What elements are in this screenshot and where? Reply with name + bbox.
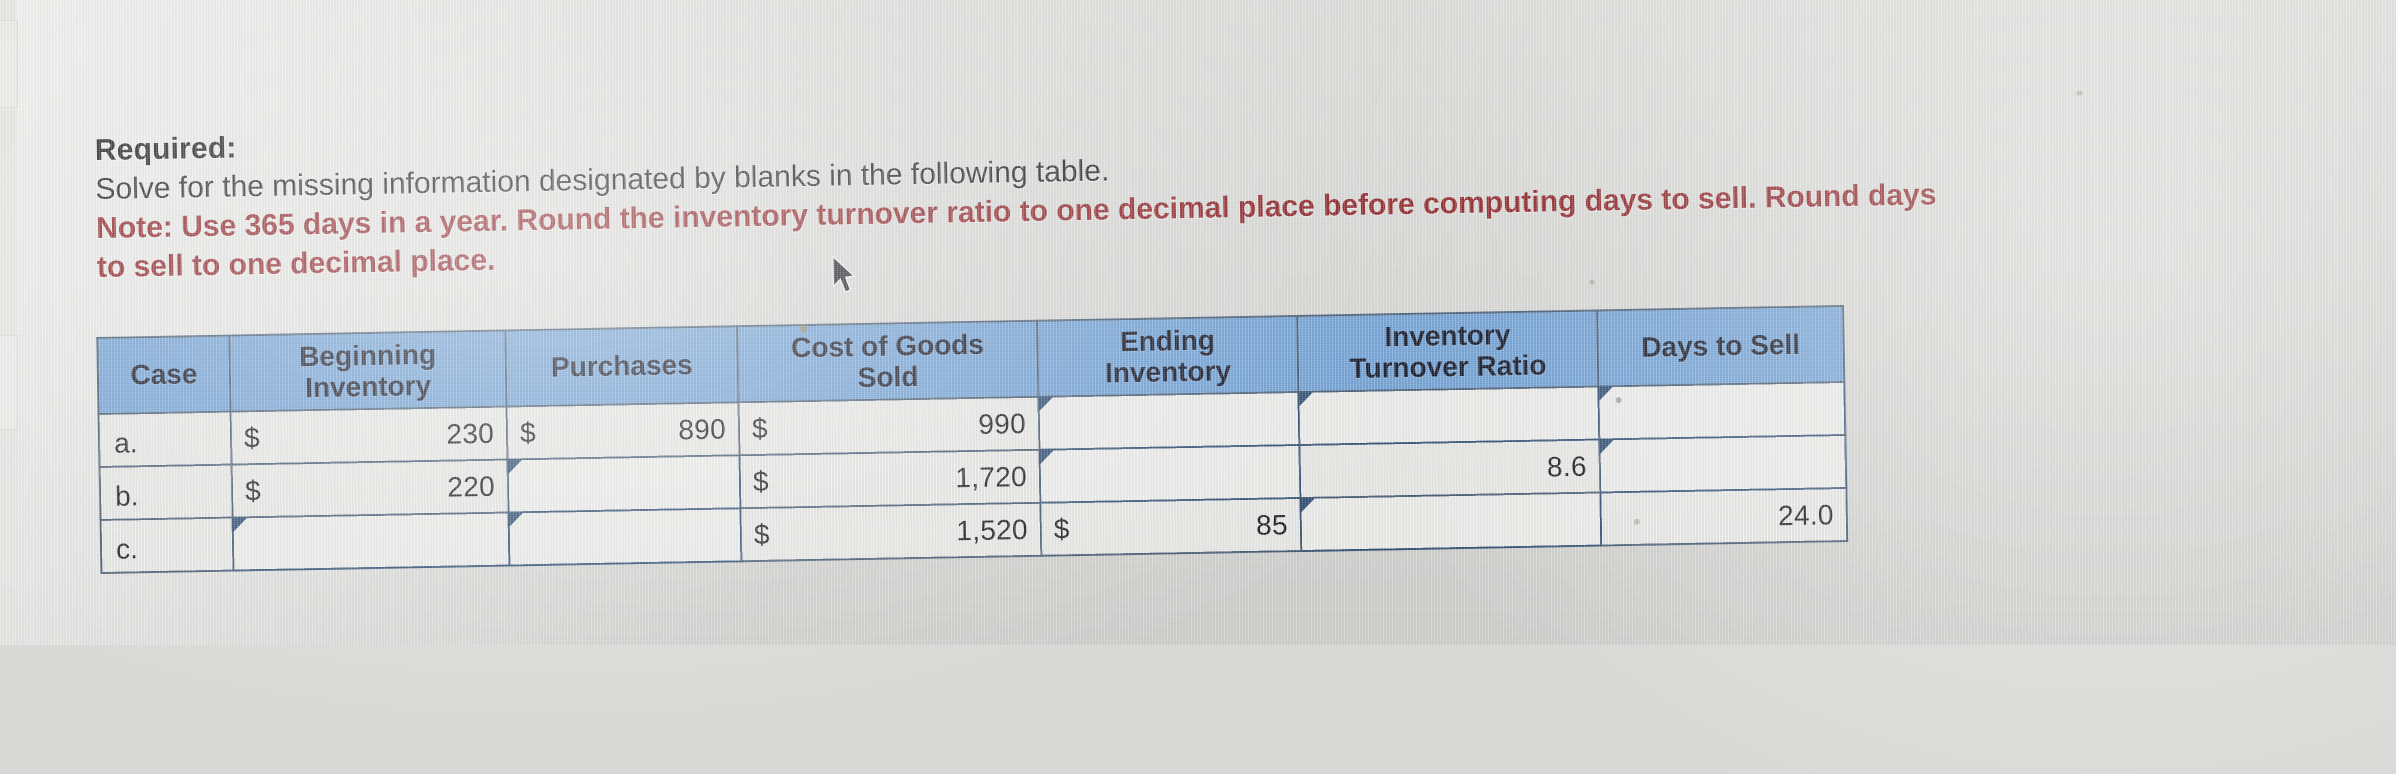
- cell-purchases-a[interactable]: $ 890: [507, 402, 740, 459]
- amount-value: 220: [447, 470, 495, 503]
- column-header-case: Case: [97, 336, 230, 414]
- mouse-pointer-icon: [831, 255, 858, 300]
- amount-value: 85: [1256, 509, 1288, 542]
- amount-value: 8.6: [1547, 450, 1587, 483]
- cell-beginning-inventory-a[interactable]: $ 230: [231, 407, 508, 465]
- amount-value: 230: [446, 417, 494, 450]
- column-header-purchases: Purchases: [505, 326, 738, 406]
- column-header-ending-inventory: EndingInventory: [1037, 316, 1298, 397]
- cell-inventory-turnover-ratio-c[interactable]: [1300, 492, 1601, 550]
- dust-speck: [1616, 397, 1622, 403]
- currency-symbol: $: [1054, 513, 1070, 545]
- inventory-worksheet: Case BeginningInventory Purchases Cost o…: [96, 305, 1848, 574]
- cell-purchases-c[interactable]: [508, 508, 741, 565]
- currency-symbol: $: [753, 465, 769, 497]
- amount-value: 990: [978, 408, 1026, 441]
- cell-days-to-sell-b[interactable]: [1599, 435, 1846, 492]
- currency-symbol: $: [754, 518, 770, 550]
- case-label: b.: [115, 480, 139, 512]
- cell-cost-of-goods-sold-a[interactable]: $ 990: [739, 397, 1040, 455]
- case-label: a.: [114, 427, 138, 459]
- dust-speck: [1589, 280, 1594, 285]
- currency-symbol: $: [520, 416, 536, 448]
- dust-speck: [800, 324, 807, 333]
- cell-inventory-turnover-ratio-a[interactable]: [1298, 387, 1599, 445]
- cell-cost-of-goods-sold-b[interactable]: $ 1,720: [739, 450, 1040, 508]
- cell-beginning-inventory-c[interactable]: [233, 512, 510, 570]
- cell-purchases-b[interactable]: [508, 455, 741, 512]
- currency-symbol: $: [752, 412, 768, 444]
- cell-cost-of-goods-sold-c[interactable]: $ 1,520: [740, 503, 1041, 561]
- cell-days-to-sell-c[interactable]: 24.0: [1600, 488, 1847, 545]
- inventory-table: Case BeginningInventory Purchases Cost o…: [96, 305, 1848, 574]
- cell-beginning-inventory-b[interactable]: $ 220: [232, 460, 509, 518]
- cell-case-c: c.: [101, 518, 234, 573]
- currency-symbol: $: [245, 475, 261, 507]
- cell-case-a: a.: [99, 412, 232, 467]
- cell-ending-inventory-b[interactable]: [1039, 445, 1300, 503]
- column-header-inventory-turnover-ratio: InventoryTurnover Ratio: [1297, 311, 1598, 392]
- column-header-beginning-inventory: BeginningInventory: [229, 331, 506, 412]
- cell-case-b: b.: [100, 465, 233, 520]
- cell-ending-inventory-a[interactable]: [1038, 392, 1299, 450]
- currency-symbol: $: [244, 422, 260, 454]
- column-header-cost-of-goods-sold: Cost of GoodsSold: [737, 321, 1038, 402]
- case-label: c.: [116, 533, 138, 565]
- question-prompt: Required: Solve for the missing informat…: [94, 90, 2336, 287]
- amount-value: 890: [678, 413, 726, 446]
- amount-value: 24.0: [1778, 499, 1834, 532]
- amount-value: 1,720: [955, 460, 1027, 493]
- amount-value: 1,520: [956, 513, 1028, 546]
- column-header-days-to-sell: Days to Sell: [1597, 306, 1844, 386]
- cell-ending-inventory-c[interactable]: $ 85: [1040, 498, 1301, 556]
- cell-days-to-sell-a[interactable]: [1598, 382, 1845, 439]
- cell-inventory-turnover-ratio-b[interactable]: 8.6: [1299, 439, 1600, 497]
